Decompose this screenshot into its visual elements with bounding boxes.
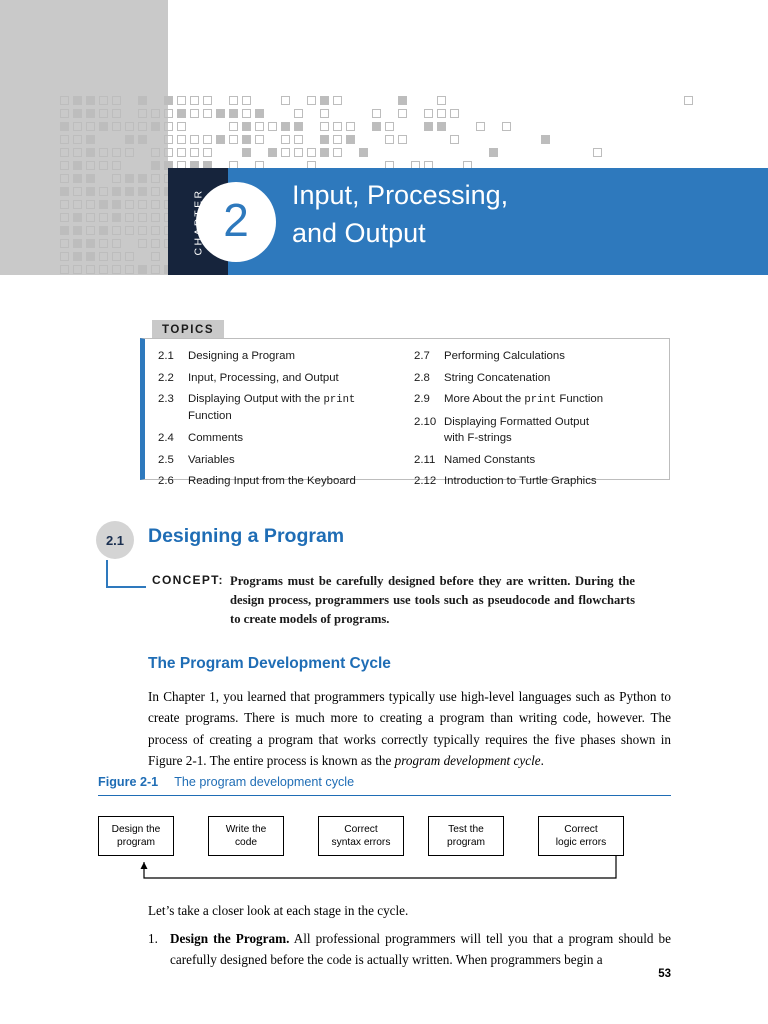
flowchart-box-text: Test theprogram xyxy=(447,823,485,849)
flowchart-box-line1: Correct xyxy=(332,823,391,836)
figure-caption: Figure 2-1The program development cycle xyxy=(98,775,671,796)
flowchart-box-line1: Write the xyxy=(226,823,267,836)
dot-grid-cell xyxy=(320,109,329,118)
chapter-number-circle: 2 xyxy=(196,182,276,262)
dot-grid-cell xyxy=(86,135,95,144)
dot-grid-cell xyxy=(164,109,173,118)
flowchart-box-text: Correctsyntax errors xyxy=(332,823,391,849)
dot-grid-cell xyxy=(125,226,134,235)
page-number: 53 xyxy=(640,968,671,980)
chapter-title-line2: and Output xyxy=(292,214,722,252)
topic-label: Comments xyxy=(188,430,414,446)
dot-grid-cell xyxy=(73,187,82,196)
dot-grid-cell xyxy=(125,213,134,222)
dot-grid-cell xyxy=(60,122,69,131)
dot-grid-cell xyxy=(164,96,173,105)
dot-grid-cell xyxy=(372,122,381,131)
dot-grid-cell xyxy=(320,96,329,105)
dot-grid-cell xyxy=(138,109,147,118)
topic-label: Variables xyxy=(188,452,414,468)
dot-grid-cell xyxy=(125,135,134,144)
flowchart-box-text: Correctlogic errors xyxy=(556,823,606,849)
flowchart-box: Design theprogram xyxy=(98,816,174,856)
topic-item[interactable]: 2.9More About the print Function xyxy=(414,391,670,408)
dot-grid-cell xyxy=(151,239,160,248)
dot-grid-cell xyxy=(216,109,225,118)
dot-grid-cell xyxy=(99,213,108,222)
dot-grid-cell xyxy=(99,252,108,261)
dot-grid-cell xyxy=(203,96,212,105)
topic-number: 2.11 xyxy=(414,452,444,468)
dot-grid-cell xyxy=(190,135,199,144)
topic-label-line2: Function xyxy=(188,408,414,424)
dot-grid-cell xyxy=(164,148,173,157)
dot-grid-cell xyxy=(502,122,511,131)
dot-grid-cell xyxy=(190,96,199,105)
topic-item[interactable]: 2.11Named Constants xyxy=(414,452,670,468)
dot-grid-cell xyxy=(268,122,277,131)
dot-grid-cell xyxy=(73,200,82,209)
dot-grid-cell xyxy=(151,187,160,196)
dot-grid-cell xyxy=(177,96,186,105)
dot-grid-cell xyxy=(138,265,147,274)
dot-grid-cell xyxy=(112,265,121,274)
dot-grid-cell xyxy=(60,174,69,183)
flowchart-box: Write thecode xyxy=(208,816,284,856)
dot-grid-cell xyxy=(541,135,550,144)
dot-grid-cell xyxy=(437,109,446,118)
topic-code-token: print xyxy=(524,394,556,406)
topic-label: Introduction to Turtle Graphics xyxy=(444,473,670,489)
topic-label: Reading Input from the Keyboard xyxy=(188,473,414,489)
dot-grid-cell xyxy=(112,187,121,196)
dot-grid-cell xyxy=(190,148,199,157)
dot-grid-cell xyxy=(86,252,95,261)
dot-grid-cell xyxy=(99,265,108,274)
flowchart-box-text: Write thecode xyxy=(226,823,267,849)
dot-grid-cell xyxy=(151,174,160,183)
subsection-heading: The Program Development Cycle xyxy=(148,655,391,673)
dot-grid-cell xyxy=(138,122,147,131)
dot-grid-cell xyxy=(203,135,212,144)
dot-grid-cell xyxy=(294,109,303,118)
dot-grid-cell xyxy=(151,148,160,157)
dot-grid-cell xyxy=(125,174,134,183)
topics-list: 2.1Designing a Program2.2Input, Processi… xyxy=(158,348,670,495)
list-item-number: 1. xyxy=(148,928,158,949)
flowchart-box-line1: Design the xyxy=(112,823,161,836)
topic-code-token: print xyxy=(324,394,356,406)
dot-grid-cell xyxy=(281,135,290,144)
dot-grid-cell xyxy=(294,122,303,131)
dot-grid-cell xyxy=(151,213,160,222)
dot-grid-cell xyxy=(86,265,95,274)
flowchart-box-line2: program xyxy=(112,836,161,849)
dot-grid-cell xyxy=(60,161,69,170)
dot-grid-cell xyxy=(398,109,407,118)
body-paragraph-end: . xyxy=(541,753,544,768)
dot-grid-cell xyxy=(112,96,121,105)
topic-label: Named Constants xyxy=(444,452,670,468)
dot-grid-cell xyxy=(281,122,290,131)
dot-grid-cell xyxy=(86,239,95,248)
dot-grid-cell xyxy=(60,148,69,157)
dot-grid-cell xyxy=(424,109,433,118)
dot-grid-cell xyxy=(73,122,82,131)
dot-grid-cell xyxy=(346,135,355,144)
dot-grid-cell xyxy=(489,148,498,157)
dot-grid-cell xyxy=(73,226,82,235)
topics-column-right: 2.7Performing Calculations2.8String Conc… xyxy=(414,348,670,495)
dot-grid-cell xyxy=(138,200,147,209)
dot-grid-cell xyxy=(73,96,82,105)
topic-item[interactable]: 2.1Designing a Program xyxy=(158,348,414,364)
dot-grid-cell xyxy=(359,148,368,157)
dot-grid-cell xyxy=(112,148,121,157)
flowchart-box: Correctsyntax errors xyxy=(318,816,404,856)
topics-heading: TOPICS xyxy=(152,320,224,340)
flowchart-box-text: Design theprogram xyxy=(112,823,161,849)
dot-grid-cell xyxy=(398,135,407,144)
dot-grid-cell xyxy=(203,109,212,118)
dot-grid-cell xyxy=(242,135,251,144)
dot-grid-cell xyxy=(216,135,225,144)
dot-grid-cell xyxy=(73,213,82,222)
dot-grid-cell xyxy=(60,187,69,196)
closing-paragraph: Let’s take a closer look at each stage i… xyxy=(148,900,671,921)
dot-grid-cell xyxy=(281,148,290,157)
chapter-title-line1: Input, Processing, xyxy=(292,176,722,214)
dot-grid-cell xyxy=(112,109,121,118)
dot-grid-cell xyxy=(86,174,95,183)
topic-label: Displaying Formatted Outputwith F-string… xyxy=(444,414,670,446)
topic-item[interactable]: 2.5Variables xyxy=(158,452,414,468)
flowchart-box-line2: syntax errors xyxy=(332,836,391,849)
dot-grid-cell xyxy=(125,265,134,274)
dot-grid-cell xyxy=(138,226,147,235)
dot-grid-cell xyxy=(151,161,160,170)
topic-item[interactable]: 2.3Displaying Output with the printFunct… xyxy=(158,391,414,424)
dot-grid-cell xyxy=(398,96,407,105)
topic-number: 2.6 xyxy=(158,473,188,489)
dot-grid-cell xyxy=(333,96,342,105)
dot-grid-cell xyxy=(177,148,186,157)
dot-grid-cell xyxy=(450,135,459,144)
topic-item[interactable]: 2.10Displaying Formatted Outputwith F-st… xyxy=(414,414,670,446)
topics-column-left: 2.1Designing a Program2.2Input, Processi… xyxy=(158,348,414,495)
figure-label: Figure 2-1 xyxy=(98,775,158,789)
topic-number: 2.7 xyxy=(414,348,444,364)
dot-grid-cell xyxy=(255,122,264,131)
section-title: Designing a Program xyxy=(148,525,344,548)
dot-grid-cell xyxy=(138,96,147,105)
dot-grid-cell xyxy=(229,109,238,118)
dot-grid-cell xyxy=(294,135,303,144)
dot-grid-cell xyxy=(112,200,121,209)
dot-grid-cell xyxy=(372,109,381,118)
dot-grid-cell xyxy=(86,122,95,131)
dot-grid-cell xyxy=(177,122,186,131)
flowchart-box-line1: Test the xyxy=(447,823,485,836)
dot-grid-cell xyxy=(112,213,121,222)
dot-grid-cell xyxy=(60,96,69,105)
dot-grid-cell xyxy=(281,96,290,105)
topic-label: Input, Processing, and Output xyxy=(188,370,414,386)
flowchart-box-line2: program xyxy=(447,836,485,849)
topic-label: String Concatenation xyxy=(444,370,670,386)
topic-number: 2.12 xyxy=(414,473,444,489)
dot-grid-cell xyxy=(151,109,160,118)
dot-grid-cell xyxy=(333,135,342,144)
dot-grid-cell xyxy=(138,174,147,183)
dot-grid-cell xyxy=(684,96,693,105)
topic-item[interactable]: 2.2Input, Processing, and Output xyxy=(158,370,414,386)
dot-grid-cell xyxy=(73,239,82,248)
dot-grid-cell xyxy=(138,135,147,144)
dot-grid-cell xyxy=(320,148,329,157)
topic-label: More About the print Function xyxy=(444,391,670,408)
dot-grid-cell xyxy=(125,122,134,131)
dot-grid-cell xyxy=(229,122,238,131)
flowchart-box: Correctlogic errors xyxy=(538,816,624,856)
dot-grid-cell xyxy=(73,148,82,157)
flowchart-box-line2: code xyxy=(226,836,267,849)
dot-grid-cell xyxy=(125,148,134,157)
dot-grid-cell xyxy=(112,122,121,131)
dot-grid-cell xyxy=(294,148,303,157)
dot-grid-cell xyxy=(138,213,147,222)
topic-number: 2.1 xyxy=(158,348,188,364)
dot-grid-cell xyxy=(385,122,394,131)
dot-grid-cell xyxy=(268,148,277,157)
dot-grid-cell xyxy=(99,122,108,131)
dot-grid-cell xyxy=(203,148,212,157)
topic-number: 2.5 xyxy=(158,452,188,468)
dot-grid-cell xyxy=(73,135,82,144)
dot-grid-cell xyxy=(125,252,134,261)
topic-number: 2.9 xyxy=(414,391,444,408)
figure-flowchart: Design theprogram Write thecode Corrects… xyxy=(98,810,671,890)
dot-grid-cell xyxy=(112,226,121,235)
dot-grid-cell xyxy=(593,148,602,157)
dot-grid-cell xyxy=(242,148,251,157)
dot-grid-cell xyxy=(86,226,95,235)
dot-grid-cell xyxy=(99,226,108,235)
dot-grid-cell xyxy=(307,96,316,105)
dot-grid-cell xyxy=(99,161,108,170)
dot-grid-cell xyxy=(346,122,355,131)
dot-grid-cell xyxy=(60,135,69,144)
dot-grid-cell xyxy=(73,161,82,170)
dot-grid-cell xyxy=(86,213,95,222)
topic-number: 2.3 xyxy=(158,391,188,424)
dot-grid-cell xyxy=(242,122,251,131)
topic-number: 2.8 xyxy=(414,370,444,386)
topic-number: 2.4 xyxy=(158,430,188,446)
dot-grid-cell xyxy=(86,148,95,157)
dot-grid-cell xyxy=(99,109,108,118)
dot-grid-cell xyxy=(60,213,69,222)
dot-grid-cell xyxy=(151,122,160,131)
topic-label: Designing a Program xyxy=(188,348,414,364)
topic-label: Performing Calculations xyxy=(444,348,670,364)
dot-grid-cell xyxy=(424,122,433,131)
topic-item[interactable]: 2.7Performing Calculations xyxy=(414,348,670,364)
figure-caption-text: The program development cycle xyxy=(174,775,354,789)
dot-grid-cell xyxy=(164,135,173,144)
chapter-title: Input, Processing, and Output xyxy=(292,176,722,253)
dot-grid-cell xyxy=(73,109,82,118)
dot-grid-cell xyxy=(86,96,95,105)
dot-grid-cell xyxy=(60,265,69,274)
dot-grid-cell xyxy=(151,252,160,261)
dot-grid-cell xyxy=(99,187,108,196)
body-paragraph-italic: program development cycle xyxy=(395,753,541,768)
dot-grid-cell xyxy=(138,239,147,248)
dot-grid-cell xyxy=(307,148,316,157)
dot-grid-cell xyxy=(60,226,69,235)
topic-item[interactable]: 2.6Reading Input from the Keyboard xyxy=(158,473,414,489)
section-number-badge: 2.1 xyxy=(96,521,134,559)
dot-grid-cell xyxy=(112,161,121,170)
numbered-list-item: 1.Design the Program. All professional p… xyxy=(170,928,671,971)
dot-grid-cell xyxy=(112,239,121,248)
dot-grid-cell xyxy=(255,135,264,144)
dot-grid-cell xyxy=(242,109,251,118)
dot-grid-cell xyxy=(255,109,264,118)
list-item-bold: Design the Program. xyxy=(170,931,289,946)
topic-number: 2.2 xyxy=(158,370,188,386)
body-paragraph: In Chapter 1, you learned that programme… xyxy=(148,686,671,772)
concept-label: CONCEPT: xyxy=(152,573,224,587)
dot-grid-cell xyxy=(437,96,446,105)
dot-grid-cell xyxy=(229,96,238,105)
dot-grid-cell xyxy=(125,187,134,196)
dot-grid-cell xyxy=(151,226,160,235)
topic-item[interactable]: 2.4Comments xyxy=(158,430,414,446)
dot-grid-cell xyxy=(86,161,95,170)
flowchart-box-line2: logic errors xyxy=(556,836,606,849)
topic-label-line2: with F-strings xyxy=(444,430,670,446)
dot-grid-cell xyxy=(229,135,238,144)
dot-grid-cell xyxy=(164,122,173,131)
dot-grid-cell xyxy=(242,96,251,105)
dot-grid-cell xyxy=(86,200,95,209)
dot-grid-cell xyxy=(60,239,69,248)
dot-grid-cell xyxy=(138,187,147,196)
topic-item[interactable]: 2.12Introduction to Turtle Graphics xyxy=(414,473,670,489)
dot-grid-cell xyxy=(99,239,108,248)
dot-grid-cell xyxy=(112,174,121,183)
dot-grid-cell xyxy=(151,200,160,209)
dot-grid-cell xyxy=(151,265,160,274)
flowchart-box-line1: Correct xyxy=(556,823,606,836)
dot-grid-cell xyxy=(177,135,186,144)
dot-grid-cell xyxy=(320,135,329,144)
dot-grid-cell xyxy=(60,109,69,118)
chapter-number: 2 xyxy=(223,197,249,247)
dot-grid-cell xyxy=(86,187,95,196)
dot-grid-cell xyxy=(177,109,186,118)
dot-grid-cell xyxy=(86,109,95,118)
dot-grid-cell xyxy=(112,252,121,261)
topic-label: Displaying Output with the printFunction xyxy=(188,391,414,424)
dot-grid-cell xyxy=(99,200,108,209)
dot-grid-cell xyxy=(450,109,459,118)
dot-grid-cell xyxy=(73,252,82,261)
topic-item[interactable]: 2.8String Concatenation xyxy=(414,370,670,386)
flowchart-box: Test theprogram xyxy=(428,816,504,856)
concept-bracket xyxy=(106,560,146,588)
dot-grid-cell xyxy=(320,122,329,131)
dot-grid-cell xyxy=(60,252,69,261)
dot-grid-cell xyxy=(73,265,82,274)
dot-grid-cell xyxy=(385,135,394,144)
dot-grid-cell xyxy=(190,109,199,118)
dot-grid-cell xyxy=(99,96,108,105)
dot-grid-cell xyxy=(60,200,69,209)
dot-grid-cell xyxy=(99,148,108,157)
concept-text: Programs must be carefully designed befo… xyxy=(230,572,635,629)
dot-grid-cell xyxy=(333,122,342,131)
dot-grid-cell xyxy=(333,148,342,157)
topic-number: 2.10 xyxy=(414,414,444,446)
dot-grid-cell xyxy=(125,200,134,209)
dot-grid-cell xyxy=(73,174,82,183)
dot-grid-cell xyxy=(437,122,446,131)
dot-grid-cell xyxy=(476,122,485,131)
